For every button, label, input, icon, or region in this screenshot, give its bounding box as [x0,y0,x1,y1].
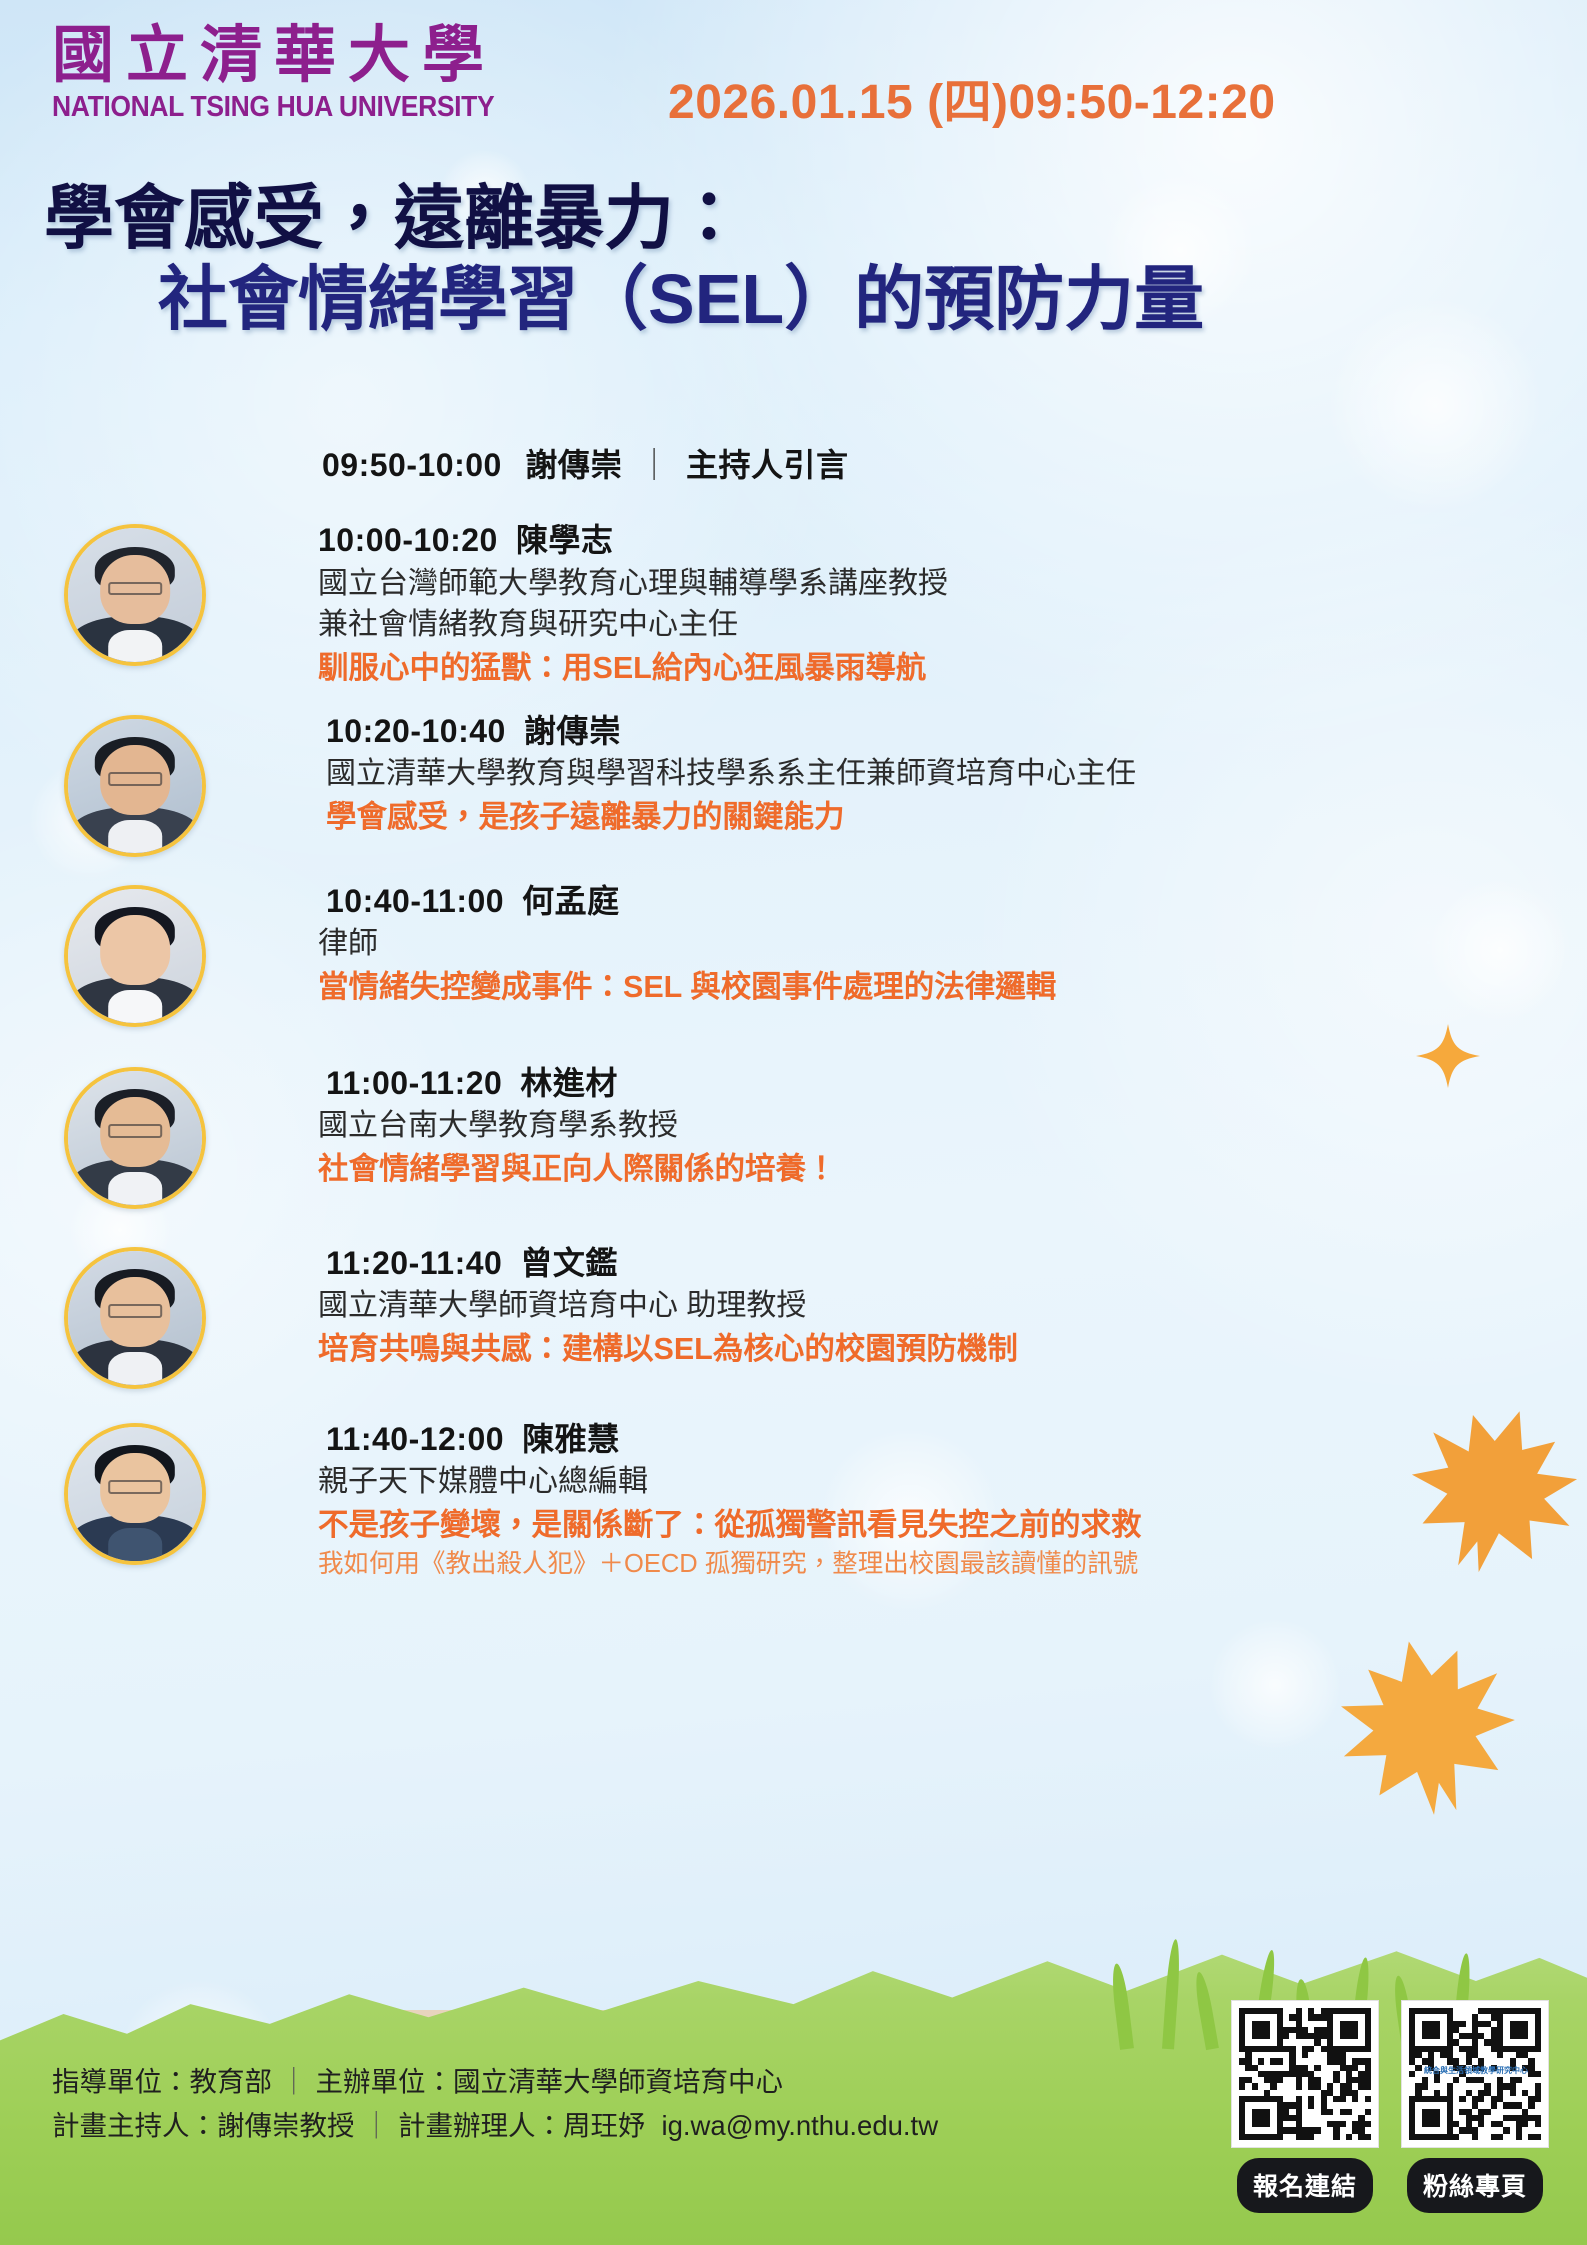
agenda-session: 10:00-10:20陳學志 國立台灣師範大學教育心理與輔導學系講座教授 兼社會… [0,520,1587,689]
agenda-session: 10:20-10:40謝傳崇 國立清華大學教育與學習科技學系系主任兼師資培育中心… [0,711,1587,851]
session-topic: 馴服心中的猛獸：用SEL給內心狂風暴雨導航 [318,648,1587,689]
supervising-unit: 指導單位：教育部 [52,2066,272,2097]
session-affiliation: 律師 [318,924,1587,964]
event-datetime: 2026.01.15 (四)09:50-12:20 [668,62,1276,132]
opening-separator: ｜ [632,447,677,483]
session-time: 10:00-10:20 [318,522,498,558]
opening-speaker: 謝傳崇 [511,447,623,483]
session-note: 我如何用《教出殺人犯》＋OECD 孤獨研究，整理出校園最該讀懂的訊號 [318,1548,1587,1581]
university-name-english: NATIONAL TSING HUA UNIVERSITY [52,91,591,124]
portrait-hsieh-chuan-chung [64,715,206,857]
session-time: 11:40-12:00 [326,1421,504,1457]
footer-divider: ｜ [272,2066,316,2097]
session-speaker: 何孟庭 [504,883,620,919]
seminar-poster: 國立清華大學 NATIONAL TSING HUA UNIVERSITY 202… [0,0,1587,2245]
portrait-chen-ya-hui [64,1423,206,1565]
qr-registration-block[interactable]: 報名連結 [1231,2000,1379,2213]
session-speaker: 林進材 [502,1065,618,1101]
glasses-icon [108,1124,162,1137]
session-affiliation: 國立台灣師範大學教育心理與輔導學系講座教授 [318,564,1587,604]
session-heading: 11:20-11:40曾文鑑 [318,1243,1587,1285]
footer-divider: ｜ [355,2110,399,2141]
session-speaker: 陳學志 [498,522,614,558]
session-speaker: 曾文鑑 [502,1245,618,1281]
session-heading: 10:20-10:40謝傳崇 [318,711,1587,753]
footer-line-organizers: 指導單位：教育部｜主辦單位：國立清華大學師資培育中心 [52,2060,1112,2105]
qr-fanpage-block[interactable]: 統合與生活領域教學研究中心 粉絲專頁 [1401,2000,1549,2213]
bokeh-decoration [1210,1620,1340,1750]
session-topic: 當情緒失控變成事件：SEL 與校園事件處理的法律邏輯 [318,967,1587,1008]
session-topic: 社會情緒學習與正向人際關係的培養！ [318,1149,1587,1190]
university-name-chinese: 國立清華大學 [52,22,632,87]
session-time: 11:20-11:40 [326,1245,502,1281]
session-affiliation: 國立台南大學教育學系教授 [318,1106,1587,1146]
agenda-list: 09:50-10:00 謝傳崇 ｜ 主持人引言 10:00-10:20陳學志 國 [0,440,1587,1581]
session-speaker: 陳雅慧 [504,1421,620,1457]
portrait-lin-chin-tsai [64,1067,206,1209]
agenda-session: 11:20-11:40曾文鑑 國立清華大學師資培育中心 助理教授 培育共鳴與共感… [0,1243,1587,1383]
title-line-1: 學會感受，遠離暴力： [0,178,1587,259]
session-heading: 11:40-12:00陳雅慧 [318,1419,1587,1461]
qr-fanpage[interactable]: 統合與生活領域教學研究中心 [1401,2000,1549,2148]
session-speaker: 謝傳崇 [506,713,622,749]
project-director: 計畫主持人：謝傳崇教授 [52,2110,355,2141]
portrait-ho-meng-ting [64,885,206,1027]
registration-button[interactable]: 報名連結 [1237,2158,1373,2213]
maple-leaf-icon [1332,1632,1522,1822]
contact-email[interactable]: ig.wa@my.nthu.edu.tw [646,2110,939,2141]
session-topic: 不是孩子變壞，是關係斷了：從孤獨警訊看見失控之前的求救 [318,1505,1587,1546]
opening-time: 09:50-10:00 [322,447,502,483]
agenda-session: 10:40-11:00何孟庭 律師 當情緒失控變成事件：SEL 與校園事件處理的… [0,881,1587,1021]
qr-code-area: 報名連結 統合與生活領域教學研究中心 粉絲專頁 [1231,2000,1549,2213]
session-heading: 11:00-11:20林進材 [318,1063,1587,1105]
footer-line-contacts: 計畫主持人：謝傳崇教授｜計畫辦理人：周玨妤ig.wa@my.nthu.edu.t… [52,2104,1112,2149]
opening-role: 主持人引言 [686,447,849,483]
session-time: 10:40-11:00 [326,883,504,919]
session-heading: 10:40-11:00何孟庭 [318,881,1587,923]
agenda-session: 11:40-12:00陳雅慧 親子天下媒體中心總編輯 不是孩子變壞，是關係斷了：… [0,1419,1587,1581]
agenda-opening-remarks: 09:50-10:00 謝傳崇 ｜ 主持人引言 [0,440,1587,486]
glasses-icon [108,1304,162,1317]
fanpage-button[interactable]: 粉絲專頁 [1407,2158,1543,2213]
session-affiliation: 兼社會情緒教育與研究中心主任 [318,605,1587,645]
glasses-icon [108,1480,162,1493]
page-title: 學會感受，遠離暴力： 社會情緒學習（SEL）的預防力量 [0,178,1587,340]
session-affiliation: 國立清華大學教育與學習科技學系系主任兼師資培育中心主任 [318,754,1587,794]
session-time: 11:00-11:20 [326,1065,502,1101]
qr-fanpage-caption: 統合與生活領域教學研究中心 [1410,2065,1542,2076]
footer-credits: 指導單位：教育部｜主辦單位：國立清華大學師資培育中心 計畫主持人：謝傳崇教授｜計… [52,2060,1112,2149]
agenda-session: 11:00-11:20林進材 國立台南大學教育學系教授 社會情緒學習與正向人際關… [0,1063,1587,1203]
qr-registration[interactable] [1231,2000,1379,2148]
session-time: 10:20-10:40 [326,713,506,749]
glasses-icon [108,582,162,595]
project-coordinator: 計畫辦理人：周玨妤 [398,2110,646,2141]
session-topic: 學會感受，是孩子遠離暴力的關鍵能力 [318,797,1587,838]
organizing-unit: 主辦單位：國立清華大學師資培育中心 [316,2066,784,2097]
portrait-chen-hsueh-chih [64,524,206,666]
glasses-icon [108,772,162,785]
title-line-2: 社會情緒學習（SEL）的預防力量 [0,259,1587,340]
session-topic: 培育共鳴與共感：建構以SEL為核心的校園預防機制 [318,1329,1587,1370]
session-affiliation: 親子天下媒體中心總編輯 [318,1462,1587,1502]
university-logo: 國立清華大學 NATIONAL TSING HUA UNIVERSITY [52,22,632,124]
session-affiliation: 國立清華大學師資培育中心 助理教授 [318,1286,1587,1326]
session-heading: 10:00-10:20陳學志 [318,520,1587,562]
portrait-tseng-wen-chien [64,1247,206,1389]
